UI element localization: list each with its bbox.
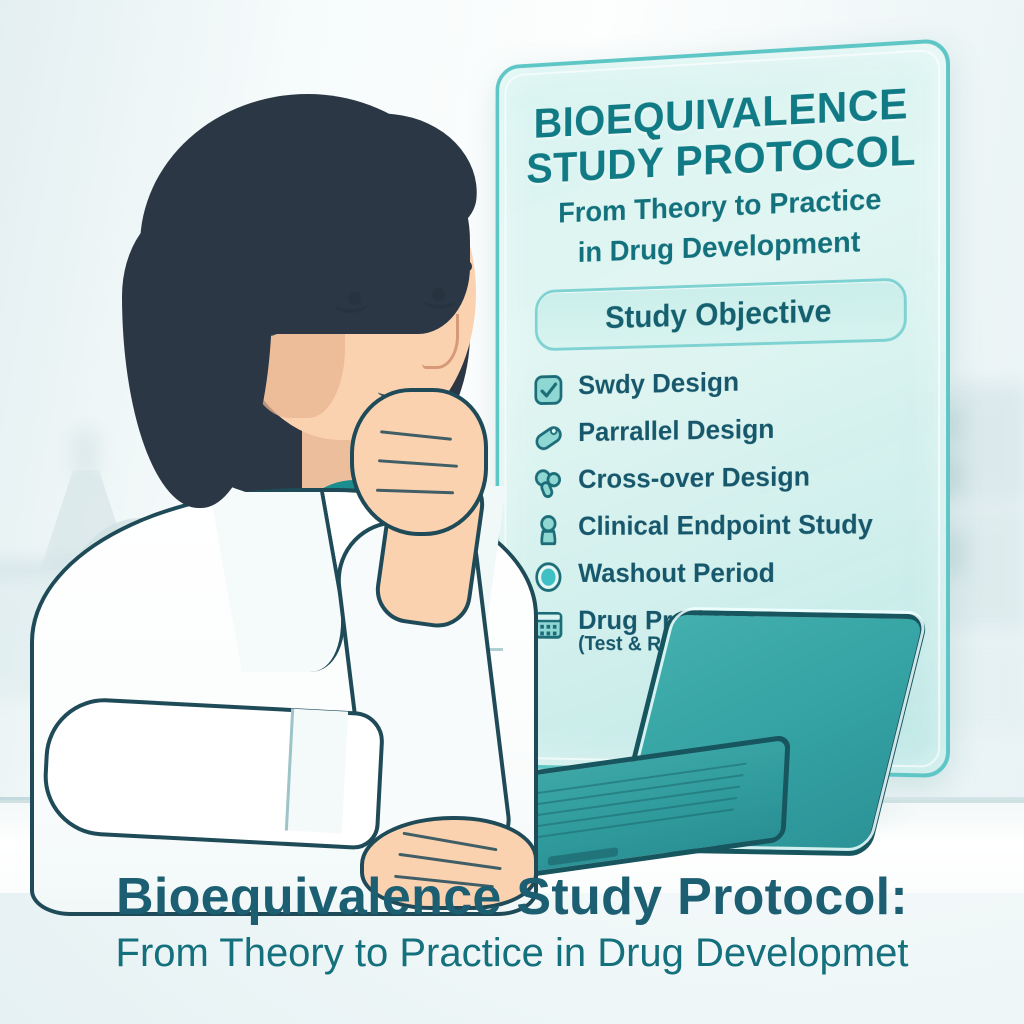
pupil-left	[348, 292, 361, 305]
panel-subtitle-line-2: in Drug Development	[519, 223, 925, 272]
list-item-label: Washout Period	[578, 558, 775, 587]
caption-main-title: Bioequivalence Study Protocol:	[0, 868, 1024, 926]
list-item[interactable]: Swdy Design	[533, 363, 924, 407]
list-item-label: Cross-over Design	[578, 462, 810, 494]
list-item-label: Parrallel Design	[578, 414, 774, 446]
caption-block: Bioequivalence Study Protocol: From Theo…	[0, 868, 1024, 976]
list-item-label: Clinical Endpoint Study	[578, 510, 873, 541]
list-item[interactable]: Clinical Endpoint Study	[533, 509, 924, 546]
illustration-scene: Bioequivalence Study Protocol From Theor…	[0, 0, 1024, 1024]
list-item[interactable]: Parrallel Design	[533, 411, 924, 453]
study-objective-label: Study Objective	[605, 293, 831, 335]
left-sleeve-cuff	[285, 709, 348, 834]
list-item-label: Swdy Design	[578, 367, 739, 400]
scientist-figure	[30, 88, 550, 818]
panel-title: Bioequivalence Study Protocol	[519, 79, 925, 191]
study-objective-box[interactable]: Study Objective	[535, 277, 907, 351]
caption-subtitle: From Theory to Practice in Drug Developm…	[0, 930, 1024, 976]
list-item[interactable]: Washout Period	[533, 558, 924, 594]
list-item[interactable]: Cross-over Design	[533, 460, 924, 500]
pupil-right	[432, 288, 445, 301]
